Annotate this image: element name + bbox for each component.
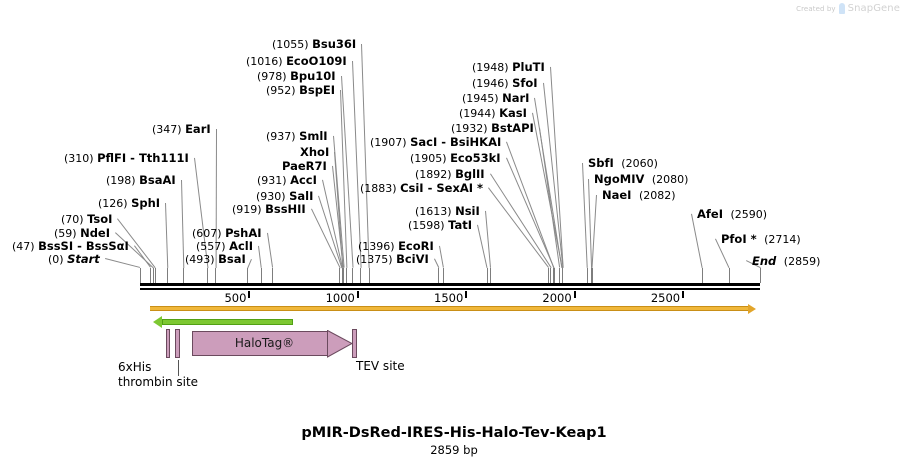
restriction-site-label-ndei[interactable]: (59) NdeI	[54, 227, 110, 240]
site-name-end: End	[752, 254, 776, 268]
restriction-site-label-xhoi[interactable]: XhoI	[300, 146, 329, 158]
site-name-xhoi: XhoI	[300, 145, 329, 159]
site-position-csii: (1883)	[360, 182, 400, 195]
feature-thrombin-block[interactable]	[175, 329, 180, 358]
ruler-tick-mark	[357, 291, 359, 298]
restriction-site-label-bsai[interactable]: (493) BsaI	[185, 253, 246, 266]
leader-line-bsaai	[181, 180, 184, 268]
ruler-bar-top	[140, 283, 760, 286]
site-position-ecori: (1396)	[358, 240, 398, 253]
site-tick-bsaai	[183, 268, 184, 283]
site-position-eari: (347)	[152, 123, 185, 136]
site-position-ecoo109i: (1016)	[246, 55, 286, 68]
leader-line-bsai	[247, 259, 252, 268]
site-position-bglii: (1892)	[415, 168, 455, 181]
restriction-site-label-smli[interactable]: (937) SmlI	[266, 130, 328, 143]
snapgene-watermark: Created by SnapGene	[796, 3, 900, 14]
site-position-pshai: (607)	[192, 227, 225, 240]
site-position-pluti: (1948)	[472, 61, 512, 74]
site-name-pflfi: PflFI - Tth111I	[97, 151, 189, 165]
ruler-tick-label: 1500	[405, 291, 463, 305]
site-name-sphi: SphI	[131, 196, 160, 210]
note-thrombin: thrombin site	[118, 375, 198, 389]
restriction-site-label-pshai[interactable]: (607) PshAI	[192, 227, 262, 240]
site-name-sali: SalI	[289, 189, 313, 203]
site-position-bcivi: (1375)	[356, 253, 396, 266]
site-position-sphi: (126)	[98, 197, 131, 210]
site-tick-pflfi	[207, 268, 208, 283]
note-tev-site: TEV site	[356, 359, 405, 373]
site-name-nsii: NsiI	[455, 204, 480, 218]
site-name-start: Start	[67, 252, 100, 266]
site-position-nari: (1945)	[462, 92, 502, 105]
ruler-tick-label: 500	[188, 291, 246, 305]
site-name-bsai: BsaI	[218, 252, 246, 266]
site-tick-pluti	[562, 268, 563, 283]
snapgene-logo-icon	[839, 3, 845, 14]
leader-line-csii	[488, 187, 549, 268]
watermark-brand-text: SnapGene	[848, 3, 900, 14]
restriction-site-label-bspei[interactable]: (952) BspEI	[266, 84, 335, 97]
leader-line-afei	[691, 214, 703, 268]
leader-line-pshai	[267, 233, 273, 268]
restriction-site-label-tati[interactable]: (1598) TatI	[408, 219, 472, 232]
site-position-pflfi: (310)	[64, 152, 97, 165]
leader-line-sphi	[165, 203, 168, 268]
site-tick-acli	[261, 268, 262, 283]
site-tick-tati	[487, 268, 488, 283]
site-name-paer7i: PaeR7I	[282, 159, 327, 173]
plasmid-length-label: 2859 bp	[0, 443, 908, 457]
site-position-naei: (2082)	[635, 189, 675, 202]
site-name-bspei: BspEI	[299, 83, 335, 97]
site-tick-bsssi	[150, 268, 151, 283]
restriction-site-label-sali[interactable]: (930) SalI	[256, 190, 313, 203]
site-position-bsaai: (198)	[106, 174, 139, 187]
site-name-csii: CsiI - SexAI *	[400, 181, 483, 195]
snapgene-linear-map: Created by SnapGene (0) Start(47) BssSI …	[0, 0, 908, 463]
green-feature-arrowhead	[153, 316, 162, 328]
leader-line-bsu36i	[361, 44, 370, 268]
restriction-site-label-start[interactable]: (0) Start	[48, 253, 100, 266]
site-position-saci: (1907)	[370, 136, 410, 149]
site-name-kasi: KasI	[499, 106, 527, 120]
site-tick-afei	[702, 268, 703, 283]
site-position-acli: (557)	[196, 240, 229, 253]
site-position-start: (0)	[48, 253, 67, 266]
leader-line-ecori	[439, 246, 444, 268]
restriction-site-label-ecori[interactable]: (1396) EcoRI	[358, 240, 434, 253]
site-tick-pfoi	[729, 268, 730, 283]
restriction-site-label-acli[interactable]: (557) AclI	[196, 240, 253, 253]
site-name-tsoi: TsoI	[87, 212, 112, 226]
restriction-site-label-nari[interactable]: (1945) NarI	[462, 92, 529, 105]
restriction-site-label-nsii[interactable]: (1613) NsiI	[415, 205, 480, 218]
restriction-site-label-bglii[interactable]: (1892) BglII	[415, 168, 485, 181]
restriction-site-label-tsoi[interactable]: (70) TsoI	[61, 213, 112, 226]
leader-line-nari	[534, 98, 562, 268]
feature-6xhis-block[interactable]	[166, 329, 170, 358]
site-tick-end	[760, 268, 761, 283]
leader-line-bcivi	[434, 259, 439, 268]
restriction-site-label-bsssi[interactable]: (47) BssSI - BssSαI	[12, 240, 129, 253]
site-tick-sphi	[167, 268, 168, 283]
leader-line-ecoo109i	[352, 61, 362, 268]
restriction-site-label-ngomiv[interactable]: NgoMIV (2080)	[594, 173, 688, 186]
site-position-sali: (930)	[256, 190, 289, 203]
restriction-site-label-acci[interactable]: (931) AccI	[257, 174, 317, 187]
leader-line-saci	[506, 142, 554, 268]
restriction-site-label-pflfi[interactable]: (310) PflFI - Tth111I	[64, 152, 189, 165]
site-name-ecoo109i: EcoO109I	[286, 54, 347, 68]
site-position-kasi: (1944)	[459, 107, 499, 120]
site-position-bsshii: (919)	[232, 203, 265, 216]
site-name-saci: SacI - BsiHKAI	[410, 135, 501, 149]
ruler-tick-mark	[682, 291, 684, 298]
ruler-bar-bottom	[140, 288, 760, 290]
site-position-bsai: (493)	[185, 253, 218, 266]
site-name-acci: AccI	[290, 173, 317, 187]
site-tick-ecoo109i	[360, 268, 361, 283]
backbone-track[interactable]	[150, 306, 748, 311]
site-name-bglii: BglII	[455, 167, 485, 181]
site-name-bsssi: BssSI - BssSαI	[38, 239, 129, 253]
site-tick-start	[140, 268, 141, 283]
site-position-smli: (937)	[266, 130, 299, 143]
site-name-bpu10i: Bpu10I	[290, 69, 335, 83]
ruler-tick-mark	[574, 291, 576, 298]
site-position-acci: (931)	[257, 174, 290, 187]
restriction-site-label-csii[interactable]: (1883) CsiI - SexAI *	[360, 182, 483, 195]
site-tick-bpu10i	[352, 268, 353, 283]
restriction-site-label-afei[interactable]: AfeI (2590)	[697, 208, 767, 221]
site-tick-saci	[554, 268, 555, 283]
site-position-nsii: (1613)	[415, 205, 455, 218]
site-position-bpu10i: (978)	[257, 70, 290, 83]
backbone-track-arrowhead	[748, 304, 756, 314]
restriction-site-label-sfoi[interactable]: (1946) SfoI	[472, 77, 538, 90]
site-name-eco53ki: Eco53kI	[450, 151, 501, 165]
restriction-site-label-bpu10i[interactable]: (978) Bpu10I	[257, 70, 336, 83]
restriction-site-label-end[interactable]: End (2859)	[752, 255, 820, 268]
leader-line-sbfi	[582, 163, 588, 268]
restriction-site-label-bcivi[interactable]: (1375) BciVI	[356, 253, 429, 266]
site-name-pshai: PshAI	[225, 226, 261, 240]
site-name-afei: AfeI	[697, 207, 723, 221]
site-tick-bstapi	[559, 268, 560, 283]
site-position-tsoi: (70)	[61, 213, 87, 226]
ruler-tick-label: 1000	[297, 291, 355, 305]
site-position-bsssi: (47)	[12, 240, 38, 253]
halotag-feature-label: HaloTag®	[192, 336, 337, 350]
site-name-acli: AclI	[229, 239, 253, 253]
site-name-ngomiv: NgoMIV	[594, 172, 644, 186]
green-feature-track[interactable]	[162, 319, 293, 325]
site-tick-bglii	[550, 268, 551, 283]
site-tick-bsu36i	[369, 268, 370, 283]
site-position-sfoi: (1946)	[472, 77, 512, 90]
site-position-end: (2859)	[780, 255, 820, 268]
restriction-site-label-eco53ki[interactable]: (1905) Eco53kI	[410, 152, 501, 165]
restriction-site-label-kasi[interactable]: (1944) KasI	[459, 107, 527, 120]
site-position-sbfi: (2060)	[618, 157, 658, 170]
site-name-naei: NaeI	[602, 188, 631, 202]
restriction-site-label-pluti[interactable]: (1948) PluTI	[472, 61, 545, 74]
ruler-tick-mark	[248, 291, 250, 298]
site-name-pfoi: PfoI *	[721, 232, 757, 246]
site-tick-ndei	[153, 268, 154, 283]
site-position-pfoi: (2714)	[761, 233, 801, 246]
site-name-ndei: NdeI	[80, 226, 110, 240]
site-name-smli: SmlI	[299, 129, 328, 143]
site-tick-tsoi	[155, 268, 156, 283]
restriction-site-label-pfoi[interactable]: PfoI * (2714)	[721, 233, 801, 246]
site-name-bcivi: BciVI	[396, 252, 429, 266]
site-name-pluti: PluTI	[512, 60, 545, 74]
site-position-bstapi: (1932)	[451, 122, 491, 135]
site-position-tati: (1598)	[408, 219, 448, 232]
restriction-site-label-eari[interactable]: (347) EarI	[152, 123, 211, 136]
ruler-tick-label: 2000	[514, 291, 572, 305]
leader-line-acli	[258, 246, 262, 268]
site-position-bspei: (952)	[266, 84, 299, 97]
site-tick-nsii	[490, 268, 491, 283]
site-position-ndei: (59)	[54, 227, 80, 240]
site-name-sfoi: SfoI	[512, 76, 537, 90]
site-name-sbfi: SbfI	[588, 156, 614, 170]
site-tick-eari	[215, 268, 216, 283]
site-position-bsu36i: (1055)	[272, 38, 312, 51]
restriction-site-label-paer7i[interactable]: PaeR7I	[282, 160, 327, 172]
site-tick-smli	[343, 268, 344, 283]
site-name-bstapi: BstAPI	[491, 121, 534, 135]
site-tick-csii	[548, 268, 549, 283]
site-tick-naei	[592, 268, 593, 283]
site-tick-bcivi	[438, 268, 439, 283]
site-tick-sbfi	[587, 268, 588, 283]
site-name-nari: NarI	[502, 91, 529, 105]
site-name-ecori: EcoRI	[398, 239, 434, 253]
site-tick-pshai	[272, 268, 273, 283]
ruler-tick-label: 2500	[622, 291, 680, 305]
site-name-bsshii: BssHII	[265, 202, 306, 216]
restriction-site-label-bsaai[interactable]: (198) BsaAI	[106, 174, 176, 187]
plasmid-title: pMIR-DsRed-IRES-His-Halo-Tev-Keap1	[0, 425, 908, 441]
thrombin-leader-line	[178, 360, 179, 376]
site-tick-bsai	[247, 268, 248, 283]
restriction-site-label-naei[interactable]: NaeI (2082)	[602, 189, 676, 202]
restriction-site-label-sbfi[interactable]: SbfI (2060)	[588, 157, 658, 170]
leader-line-bglii	[490, 173, 552, 268]
ruler-tick-mark	[465, 291, 467, 298]
site-position-eco53ki: (1905)	[410, 152, 450, 165]
site-name-eari: EarI	[185, 122, 211, 136]
watermark-created-by-text: Created by	[796, 5, 836, 13]
leader-line-start	[105, 258, 140, 268]
restriction-site-label-ecoo109i[interactable]: (1016) EcoO109I	[246, 55, 347, 68]
restriction-site-label-bsshii[interactable]: (919) BssHII	[232, 203, 306, 216]
site-tick-bspei	[346, 268, 347, 283]
site-name-bsaai: BsaAI	[139, 173, 176, 187]
restriction-site-label-saci[interactable]: (1907) SacI - BsiHKAI	[370, 136, 501, 149]
site-name-tati: TatI	[448, 218, 472, 232]
leader-line-naei	[592, 195, 597, 268]
site-tick-ecori	[443, 268, 444, 283]
note-6xhis: 6xHis	[118, 360, 151, 374]
restriction-site-label-bstapi[interactable]: (1932) BstAPI	[451, 122, 534, 135]
site-tick-bsshii	[339, 268, 340, 283]
site-position-ngomiv: (2080)	[648, 173, 688, 186]
site-position-afei: (2590)	[727, 208, 767, 221]
site-name-bsu36i: Bsu36I	[312, 37, 356, 51]
restriction-site-label-sphi[interactable]: (126) SphI	[98, 197, 160, 210]
restriction-site-label-bsu36i[interactable]: (1055) Bsu36I	[272, 38, 356, 51]
